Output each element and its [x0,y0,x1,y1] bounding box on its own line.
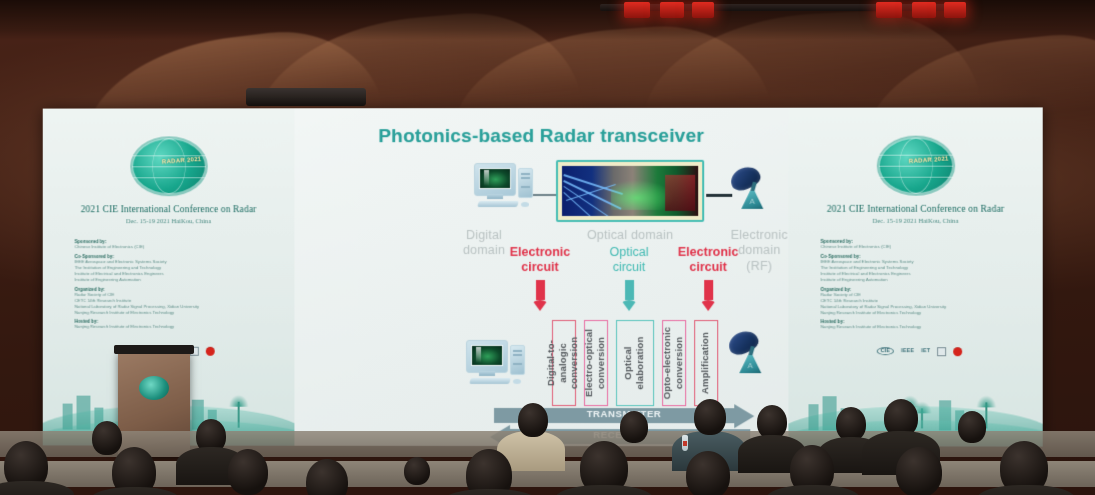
stage-light [624,2,650,18]
audience-head [836,407,866,441]
banner-section-line: Chinese Institute of Electronics (CIE) [75,244,277,250]
banner-section-line: Institute of Engineering Automation [821,277,1025,283]
audience-area [0,385,1095,495]
water-bottle [682,435,688,451]
banner-section-line: Chinese Institute of Electronics (CIE) [821,244,1025,250]
banner-subtitle: Dec. 15-19 2021 HaiKou, China [49,218,289,225]
audience-head [686,451,730,495]
radar-globe-logo-icon: RADAR 2021 [132,138,206,194]
banner-section-line: Nanjing Research Institute of Electronic… [821,310,1025,316]
circuit-label-optical: Optical circuit [594,245,664,275]
iet-logo-icon: IET [921,348,930,354]
page-title: Photonics-based Radar transceiver [294,126,788,148]
stage-light [660,2,684,18]
desktop-computer-icon [474,163,536,211]
stage-light [944,2,966,18]
stage-light [692,2,714,18]
audience-head [757,405,787,439]
stage-light [912,2,936,18]
audience-head [518,403,548,437]
audience-head [694,399,726,435]
audience-head [896,447,942,495]
banner-section-line: Nanjing Research Institute of Electronic… [75,324,277,330]
conference-hall-scene: RADAR 2021 2021 CIE International Confer… [0,0,1095,495]
radar-dish-icon [726,330,772,376]
desktop-computer-icon [466,340,528,388]
banner-title: 2021 CIE International Conference on Rad… [49,204,289,215]
circuit-label-electronic-2: Electronic circuit [662,245,754,275]
sponsor-logo-dot-icon [206,346,215,355]
banner-title: 2021 CIE International Conference on Rad… [794,204,1036,215]
red-down-arrow-1 [532,280,549,300]
sponsor-logo-row: CIE IEEE IET [817,344,1023,358]
banner-subtitle: Dec. 15-19 2021 HaiKou, China [794,218,1036,225]
teal-down-arrow [621,280,638,300]
audience-head [404,457,430,485]
cie-logo-icon: CIE [876,347,894,355]
banner-section-line: Nanjing Research Institute of Electronic… [821,324,1025,330]
projector-mount [246,88,366,106]
sponsor-logo-box-icon [937,347,946,356]
sponsor-logo-dot-icon [954,347,963,356]
banner-section-line: Nanjing Research Institute of Electronic… [75,310,277,316]
stage-light [876,2,902,18]
audience-head [228,449,268,495]
photonics-hardware-photo [556,160,704,222]
radar-dish-icon [728,166,774,212]
ieee-logo-icon: IEEE [901,348,914,354]
domain-label-optical: Optical domain [552,228,708,243]
radar-globe-logo-icon: RADAR 2021 [878,138,952,194]
light-bar [600,4,960,11]
audience-head [958,411,986,443]
audience-head [620,411,648,443]
audience-head [92,421,122,455]
red-down-arrow-2 [700,280,717,300]
circuit-label-electronic-1: Electronic circuit [494,245,586,275]
banner-section-line: Institute of Engineering Automation [75,277,277,283]
